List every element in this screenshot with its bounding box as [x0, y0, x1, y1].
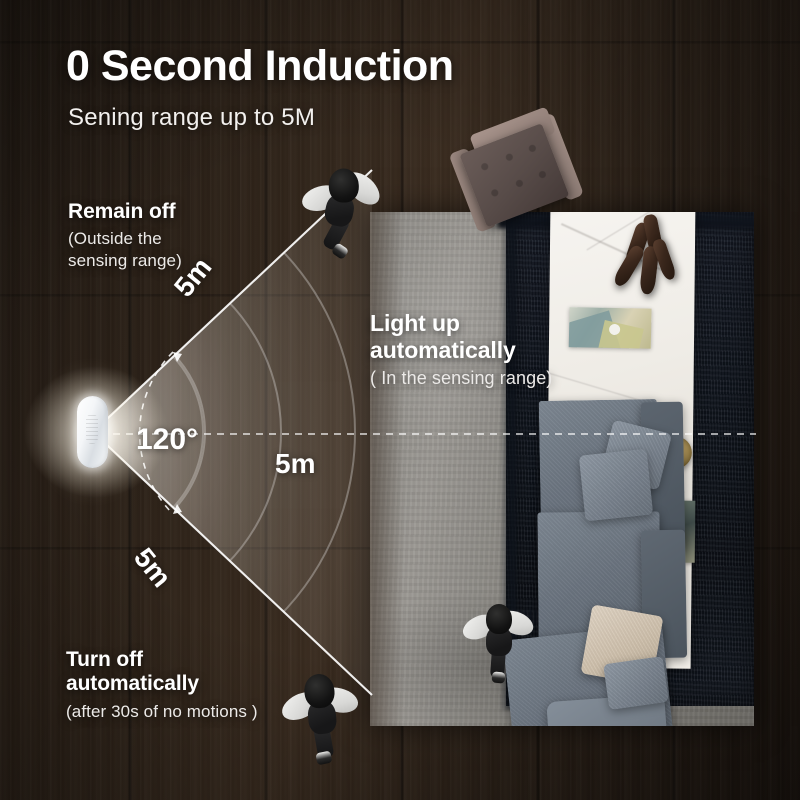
person-shoe [315, 750, 332, 765]
page-title: 0 Second Induction [66, 44, 454, 89]
callout-light-up-sub: ( In the sensing range) [370, 367, 552, 390]
angle-label: 120° [136, 423, 198, 457]
callout-turn-off-title: Turn off automatically [66, 648, 258, 697]
page-subtitle: Sening range up to 5M [68, 104, 315, 132]
callout-turn-off-sub: (after 30s of no motions ) [66, 701, 258, 723]
callout-remain-off: Remain off (Outside the sensing range) [68, 200, 182, 273]
person-hair [328, 168, 359, 203]
callout-light-up: Light up automatically ( In the sensing … [370, 310, 552, 391]
person-shoe [491, 671, 505, 683]
callout-turn-off: Turn off automatically (after 30s of no … [66, 648, 258, 723]
callout-light-up-title: Light up automatically [370, 310, 552, 363]
infographic-canvas: 0 Second Induction Sening range up to 5M… [0, 0, 800, 800]
person-hair [486, 604, 512, 634]
person-outside-range-bottom [277, 664, 365, 768]
callout-remain-off-sub: (Outside the sensing range) [68, 228, 182, 272]
range-label-center: 5m [275, 448, 315, 480]
callout-remain-off-title: Remain off [68, 200, 182, 224]
motion-sensor-light-device[interactable] [77, 396, 108, 468]
